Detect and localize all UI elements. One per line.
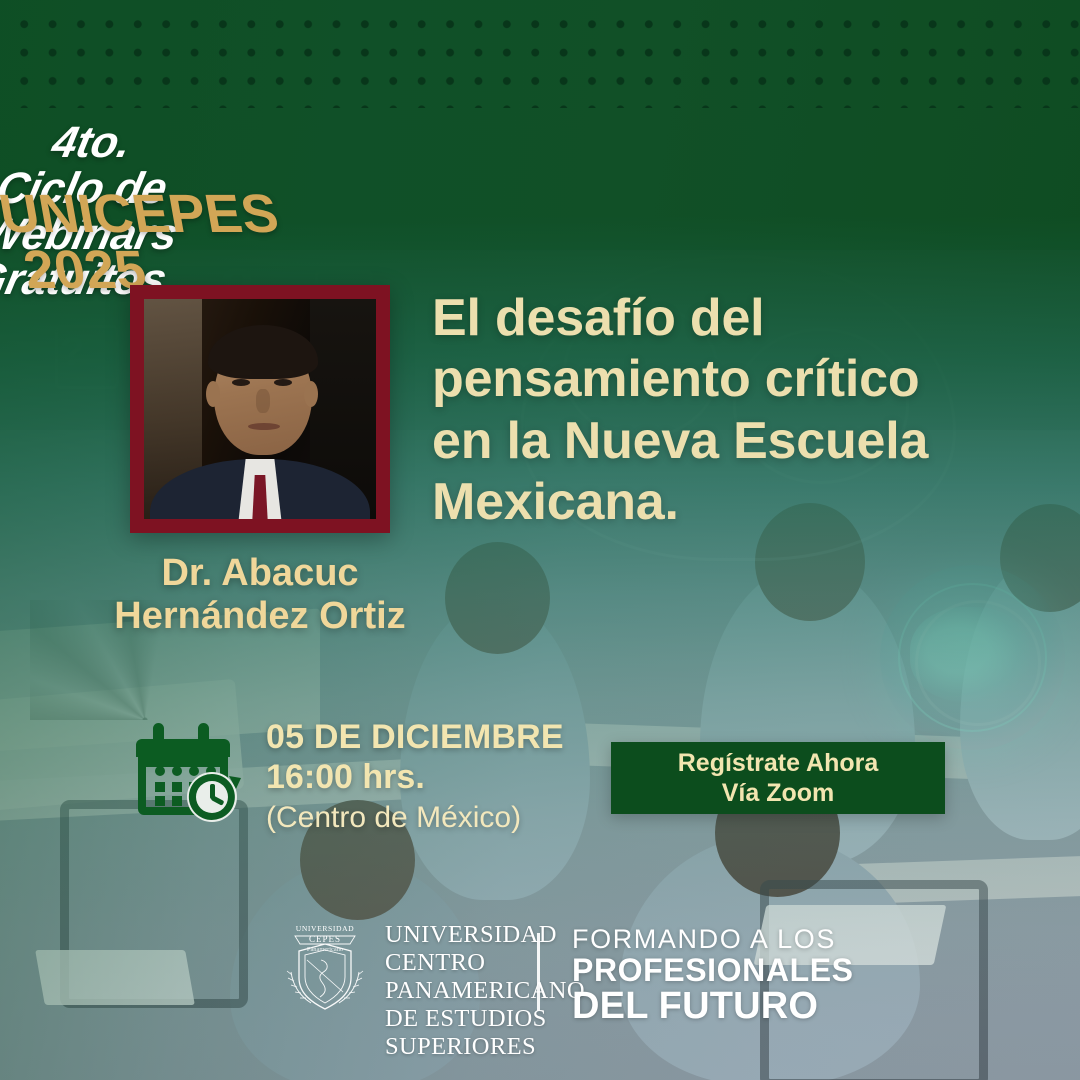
footer-divider (537, 933, 540, 1011)
webinar-title: El desafío del pensamiento crítico en la… (432, 288, 992, 533)
speaker-name: Dr. Abacuc Hernández Ortiz (40, 552, 480, 637)
schedule-text: 05 DE DICIEMBRE 16:00 hrs. (Centro de Mé… (266, 715, 564, 836)
speaker-photo-frame (130, 285, 390, 533)
university-name-line-2: CENTRO (385, 949, 585, 977)
register-button-label-line-2: Vía Zoom (722, 778, 835, 809)
speaker-photo (144, 299, 376, 519)
university-name-line-4: DE ESTUDIOS (385, 1005, 585, 1033)
university-name-line-3: PANAMERICANO (385, 977, 585, 1005)
webinar-title-line-2: pensamiento crítico (432, 349, 992, 410)
schedule-block: 05 DE DICIEMBRE 16:00 hrs. (Centro de Mé… (136, 715, 564, 836)
portrait-mouth (248, 423, 280, 430)
schedule-time: 16:00 hrs. (266, 757, 564, 798)
calendar-clock-icon (136, 721, 244, 825)
footer-tagline: FORMANDO A LOS PROFESIONALES DEL FUTURO (572, 925, 854, 1026)
tagline-line-3: DEL FUTURO (572, 987, 854, 1026)
schedule-date: 05 DE DICIEMBRE (266, 717, 564, 757)
poster-footer: UNIVERSIDAD CEPES Panamericano UNIVERSID… (0, 915, 1080, 1030)
portrait-ear (206, 381, 220, 407)
crest-mid-text: CEPES (309, 934, 341, 944)
university-crest-icon: UNIVERSIDAD CEPES Panamericano (277, 920, 373, 1020)
tagline-line-1: FORMANDO A LOS (572, 925, 854, 954)
dot-grid-pattern (0, 0, 1080, 108)
crest-top-text: UNIVERSIDAD (296, 924, 355, 933)
speaker-portrait-illustration (144, 299, 376, 519)
webinar-title-line-4: Mexicana. (432, 472, 992, 533)
schedule-timezone: (Centro de México) (266, 799, 564, 837)
register-button[interactable]: Regístrate Ahora Vía Zoom (611, 742, 945, 814)
webinar-title-line-1: El desafío del (432, 288, 992, 349)
register-button-label-line-1: Regístrate Ahora (678, 748, 879, 779)
header-brand-year: UNICEPES 2025 (0, 186, 155, 241)
header-series-title: 4to. Ciclo de Webinars Gratuitos (0, 120, 186, 180)
portrait-eye (232, 379, 250, 386)
tagline-line-2: PROFESIONALES (572, 954, 854, 987)
speaker-name-line-1: Dr. Abacuc (40, 552, 480, 595)
portrait-nose (256, 389, 270, 413)
webinar-title-line-3: en la Nueva Escuela (432, 411, 992, 472)
portrait-ear (304, 381, 318, 407)
speaker-name-line-2: Hernández Ortiz (40, 595, 480, 638)
portrait-eyebrow (272, 370, 294, 375)
crest-ribbon-text: Panamericano (307, 946, 343, 953)
university-name: UNIVERSIDAD CENTRO PANAMERICANO DE ESTUD… (385, 921, 585, 1061)
poster-header: 4to. Ciclo de Webinars Gratuitos UNICEPE… (0, 120, 1080, 241)
portrait-eyebrow (230, 370, 252, 375)
university-name-line-1: UNIVERSIDAD (385, 921, 585, 949)
university-name-line-5: SUPERIORES (385, 1033, 585, 1061)
clock-sub-icon (187, 772, 241, 822)
webinar-poster: ? ? ? 4to. Ciclo de Webinars Gratuitos U… (0, 0, 1080, 1080)
portrait-eye (274, 379, 292, 386)
